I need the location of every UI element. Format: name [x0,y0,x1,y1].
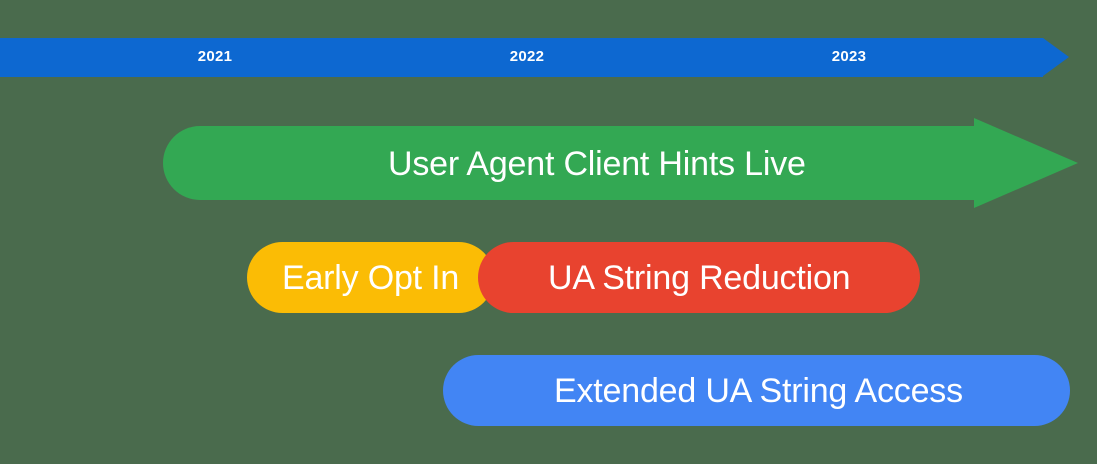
timeline-arrow-head-icon [1043,38,1069,76]
axis-year-2023: 2023 [804,47,894,67]
timeline-diagram: 2021 2022 2023 User Agent Client Hints L… [0,0,1097,464]
bar-label-extended-ua-string-access: Extended UA String Access [554,374,963,408]
bar-label-user-agent-client-hints-live: User Agent Client Hints Live [388,147,806,181]
axis-year-2021: 2021 [170,47,260,67]
axis-year-2022: 2022 [482,47,572,67]
green-bar-body-extension [803,126,975,200]
bar-label-early-opt-in: Early Opt In [282,261,459,295]
green-arrow-head-icon [974,118,1078,208]
bar-label-ua-string-reduction: UA String Reduction [548,261,850,295]
